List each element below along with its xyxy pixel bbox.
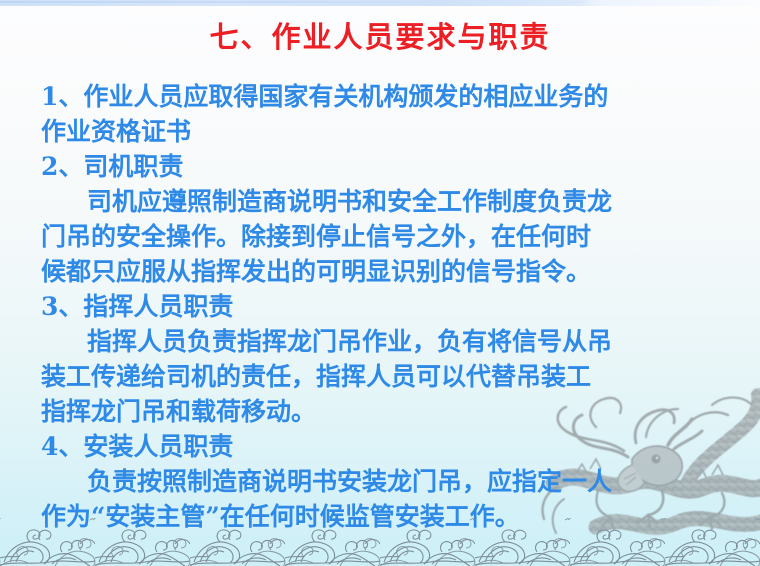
body-line: 4、安装人员职责 xyxy=(41,429,727,464)
slide-body: 1、作业人员应取得国家有关机构颁发的相应业务的 作业资格证书 2、司机职责 司机… xyxy=(41,79,727,534)
body-line: 候都只应服从指挥发出的可明显识别的信号指令。 xyxy=(41,254,727,289)
body-line: 司机应遵照制造商说明书和安全工作制度负责龙 xyxy=(41,184,727,219)
slide-title: 七、作业人员要求与职责 xyxy=(0,20,760,54)
body-line: 门吊的安全操作。除接到停止信号之外，在任何时 xyxy=(41,219,727,254)
slide-canvas: 七、作业人员要求与职责 1、作业人员应取得国家有关机构颁发的相应业务的 作业资格… xyxy=(0,0,760,566)
body-line: 指挥龙门吊和载荷移动。 xyxy=(41,394,727,429)
body-line: 2、司机职责 xyxy=(41,149,727,184)
body-line: 作业资格证书 xyxy=(41,114,727,149)
body-line: 1、作业人员应取得国家有关机构颁发的相应业务的 xyxy=(41,79,727,114)
body-line: 作为“安装主管”在任何时候监管安装工作。 xyxy=(41,499,727,534)
top-accent-band xyxy=(0,0,760,6)
body-line: 3、指挥人员职责 xyxy=(41,289,727,324)
body-line: 装工传递给司机的责任，指挥人员可以代替吊装工 xyxy=(41,359,727,394)
body-line: 负责按照制造商说明书安装龙门吊，应指定一人 xyxy=(41,464,727,499)
body-line: 指挥人员负责指挥龙门吊作业，负有将信号从吊 xyxy=(41,324,727,359)
